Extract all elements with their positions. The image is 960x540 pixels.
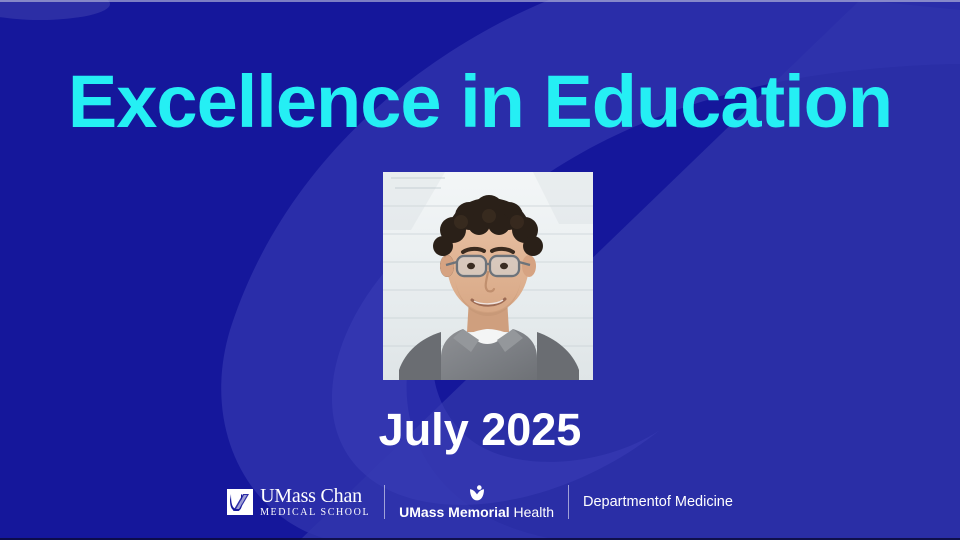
slide-top-edge <box>0 0 960 2</box>
page-title: Excellence in Education <box>0 62 960 142</box>
umass-memorial-name-light: Health <box>514 504 554 520</box>
portrait-photo <box>383 172 593 380</box>
umass-memorial-wordmark: UMass Memorial Health <box>399 505 554 519</box>
title-slide: Excellence in Education <box>0 0 960 540</box>
umass-chan-name: UMass Chan <box>260 486 370 506</box>
logo-divider-1 <box>384 485 385 519</box>
umass-chan-monogram-icon <box>227 489 253 515</box>
umass-chan-wordmark: UMass Chan MEDICAL SCHOOL <box>260 486 370 518</box>
umass-chan-subtitle: MEDICAL SCHOOL <box>260 508 370 518</box>
logo-divider-2 <box>568 485 569 519</box>
department-of-medicine-wordmark: Department of Medicine <box>583 494 733 511</box>
umass-memorial-name-bold: UMass Memorial <box>399 504 513 520</box>
department-line-2: of Medicine <box>659 494 733 511</box>
logo-bar: UMass Chan MEDICAL SCHOOL UMass Memorial… <box>0 476 960 528</box>
umass-memorial-tulip-icon <box>467 485 487 502</box>
slide-date: July 2025 <box>0 404 960 456</box>
portrait-illustration <box>383 172 593 380</box>
department-line-1: Department <box>583 494 659 511</box>
umass-memorial-logo: UMass Memorial Health <box>399 485 554 519</box>
umass-chan-logo: UMass Chan MEDICAL SCHOOL <box>227 486 370 518</box>
